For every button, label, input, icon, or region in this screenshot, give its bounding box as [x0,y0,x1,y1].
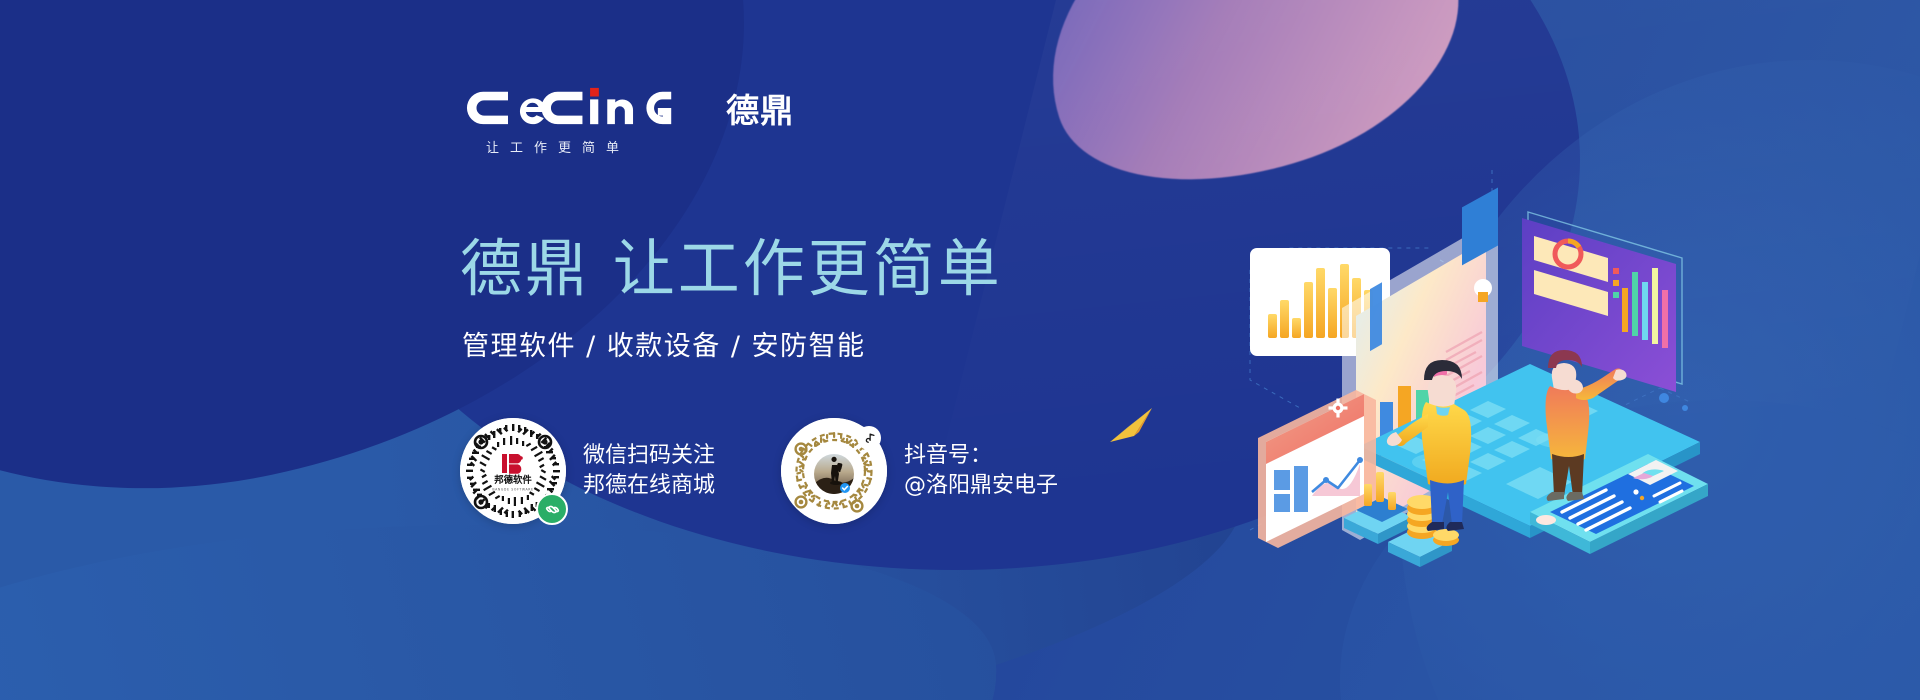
douyin-qr-code[interactable] [781,418,887,524]
brand-logo[interactable]: 德鼎 让工作更简单 [466,86,794,156]
douyin-qr-caption-line2: @洛阳鼎安电子 [904,471,1058,501]
qr-item-douyin[interactable]: 抖音号： @洛阳鼎安电子 [781,418,1058,524]
wechat-qr-code[interactable]: 邦德软件 BANGDE SOFTWARE [460,418,566,524]
hero-headline: 德鼎 让工作更简单 [460,236,1003,303]
svg-text:BANGDE SOFTWARE: BANGDE SOFTWARE [492,488,533,492]
wechat-qr-caption-line2: 邦德在线商城 [583,471,715,501]
promo-banner: 德鼎 让工作更简单 德鼎 让工作更简单 管理软件 / 收款设备 / 安防智能 [0,0,1920,700]
wechat-miniprogram-badge-icon [536,493,568,525]
douyin-qr-caption-line1: 抖音号： [904,441,1058,471]
logo-chinese-text: 德鼎 [726,94,794,128]
douyin-music-note-icon [857,426,881,450]
qr-code-group: 邦德软件 BANGDE SOFTWARE 微信扫码关注 邦德在线商城 [460,418,1058,524]
purple-analytics-panel [1522,212,1682,392]
logo-tagline: 让工作更简单 [466,137,639,156]
hero-subheadline: 管理软件 / 收款设备 / 安防智能 [462,324,866,363]
wechat-qr-caption: 微信扫码关注 邦德在线商城 [583,441,715,502]
douyin-qr-caption: 抖音号： @洛阳鼎安电子 [904,441,1058,502]
isometric-analytics-illustration [1230,140,1710,560]
deding-wordmark-icon [466,86,716,128]
logo-dot [590,88,599,97]
wechat-qr-caption-line1: 微信扫码关注 [583,441,715,471]
svg-text:邦德软件: 邦德软件 [494,474,532,486]
qr-item-wechat[interactable]: 邦德软件 BANGDE SOFTWARE 微信扫码关注 邦德在线商城 [460,418,715,524]
paper-plane-icon [1106,402,1160,448]
